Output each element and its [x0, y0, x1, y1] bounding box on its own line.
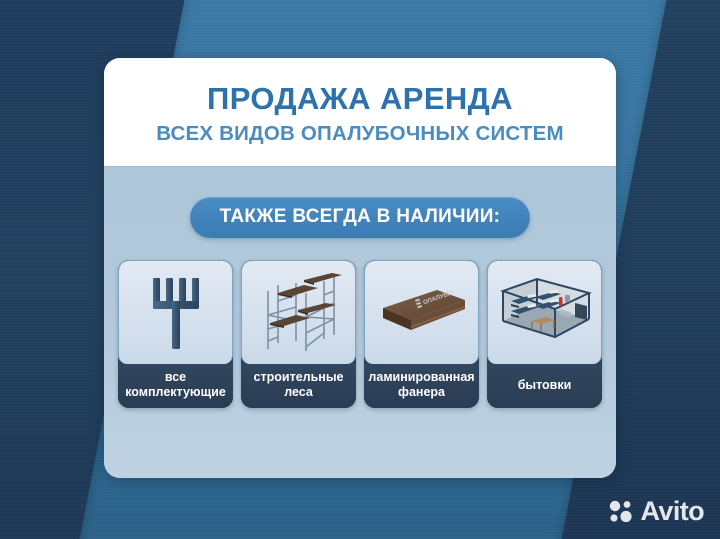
- product-label: ламинированная фанера: [364, 364, 479, 408]
- avito-watermark: Avito: [608, 498, 705, 525]
- avito-dots-icon: [608, 498, 635, 525]
- product-icon-area: ОПАЛУБКА: [364, 260, 479, 364]
- product-tile-list: все комплектующие: [104, 238, 616, 408]
- page-title: ПРОДАЖА АРЕНДА: [207, 83, 513, 116]
- product-label: бытовки: [487, 364, 602, 408]
- laminated-plywood-icon: ОПАЛУБКА: [375, 282, 469, 344]
- product-label: строительные леса: [241, 364, 356, 408]
- product-icon-area: [118, 260, 233, 364]
- product-tile[interactable]: бытовки: [487, 260, 602, 408]
- card-body: ТАКЖЕ ВСЕГДА В НАЛИЧИИ:: [104, 166, 616, 478]
- product-tile[interactable]: все комплектующие: [118, 260, 233, 408]
- card-header: ПРОДАЖА АРЕНДА ВСЕХ ВИДОВ ОПАЛУБОЧНЫХ СИ…: [104, 58, 616, 166]
- promo-card: ПРОДАЖА АРЕНДА ВСЕХ ВИДОВ ОПАЛУБОЧНЫХ СИ…: [104, 58, 616, 478]
- avito-wordmark: Avito: [641, 498, 705, 525]
- availability-badge: ТАКЖЕ ВСЕГДА В НАЛИЧИИ:: [190, 197, 531, 238]
- product-icon-area-wrap[interactable]: ОПАЛУБКА ламинированная фанера: [364, 260, 479, 408]
- product-label: все комплектующие: [118, 364, 233, 408]
- product-icon-area: [487, 260, 602, 364]
- site-cabin-icon: [497, 275, 593, 351]
- product-icon-area: [241, 260, 356, 364]
- product-tile[interactable]: строительные леса: [241, 260, 356, 408]
- banner-image: ПРОДАЖА АРЕНДА ВСЕХ ВИДОВ ОПАЛУБОЧНЫХ СИ…: [0, 0, 720, 539]
- formwork-fork-icon: [148, 274, 204, 352]
- scaffolding-icon: [256, 271, 342, 355]
- availability-banner-wrap: ТАКЖЕ ВСЕГДА В НАЛИЧИИ:: [104, 167, 616, 238]
- page-subtitle: ВСЕХ ВИДОВ ОПАЛУБОЧНЫХ СИСТЕМ: [156, 123, 564, 146]
